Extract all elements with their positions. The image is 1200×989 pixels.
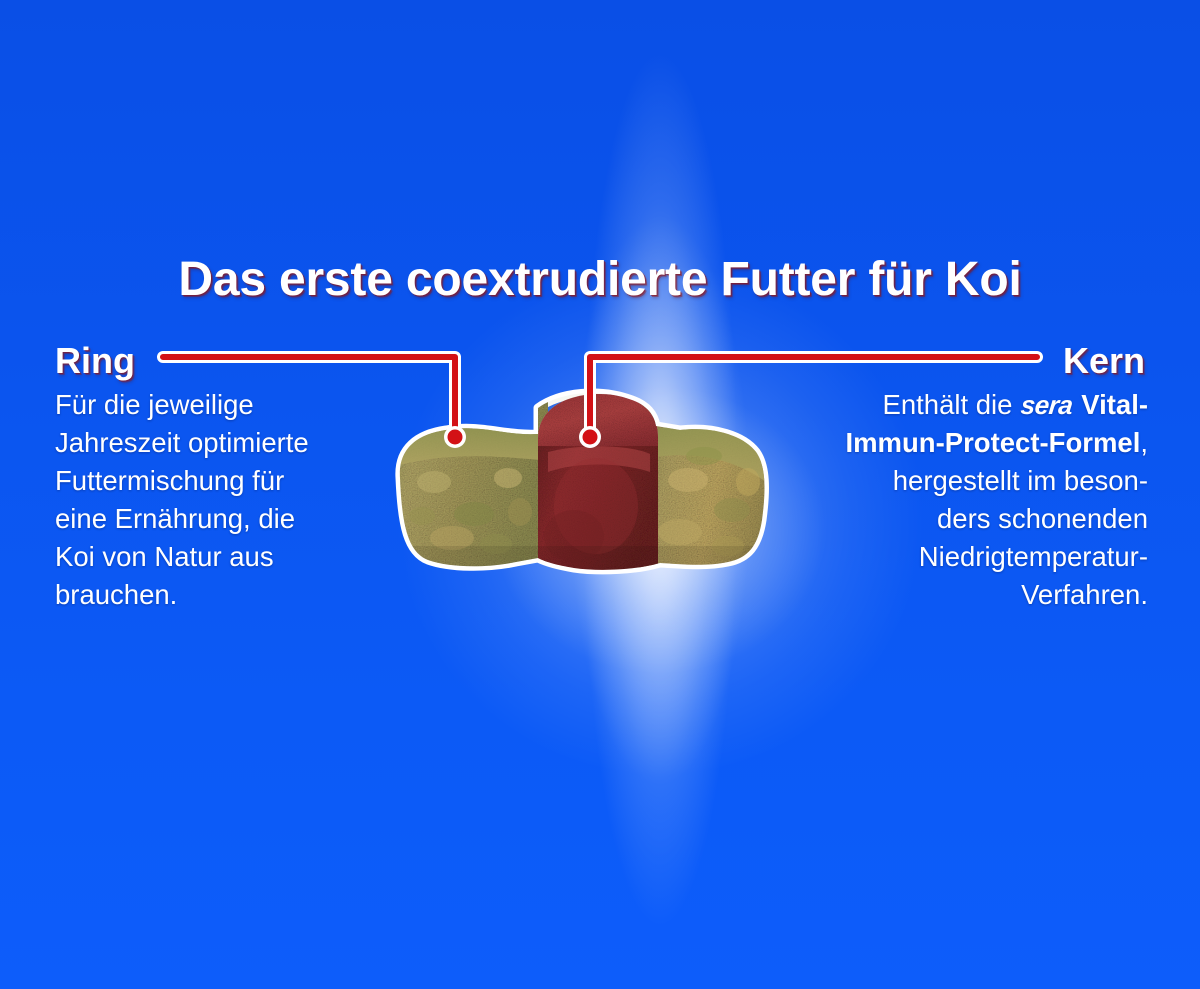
kern-bold-1: Vital- xyxy=(1074,389,1148,420)
kern-line-5: Niedrigtemperatur- xyxy=(758,538,1148,576)
kern-line-3: hergestellt im beson- xyxy=(758,462,1148,500)
sera-brand-logo: sera xyxy=(1018,386,1075,424)
ring-line-2: Jahreszeit optimierte xyxy=(55,424,405,462)
callout-label-ring: Ring xyxy=(55,340,135,382)
kern-line-4: ders schonenden xyxy=(758,500,1148,538)
poster-canvas: Das erste coextrudierte Futter für Koi R… xyxy=(0,0,1200,989)
ring-line-5: Koi von Natur aus xyxy=(55,538,405,576)
callout-body-kern: Enthält die sera Vital- Immun-Protect-Fo… xyxy=(758,386,1148,614)
callout-body-ring: Für die jeweilige Jahreszeit optimierte … xyxy=(55,386,405,614)
kern-bold-2: Immun-Protect-Formel xyxy=(845,427,1140,458)
kern-lead-text: Enthält die xyxy=(883,389,1021,420)
ring-line-6: brauchen. xyxy=(55,576,405,614)
kern-line-6: Verfahren. xyxy=(758,576,1148,614)
ring-line-1: Für die jeweilige xyxy=(55,386,405,424)
kern-line-1: Enthält die sera Vital- xyxy=(758,386,1148,424)
kern-line-2: Immun-Protect-Formel, xyxy=(758,424,1148,462)
ring-line-4: eine Ernährung, die xyxy=(55,500,405,538)
page-title: Das erste coextrudierte Futter für Koi xyxy=(0,252,1200,307)
product-pellet-image xyxy=(388,386,772,586)
ring-line-3: Futtermischung für xyxy=(55,462,405,500)
callout-label-kern: Kern xyxy=(1063,340,1145,382)
